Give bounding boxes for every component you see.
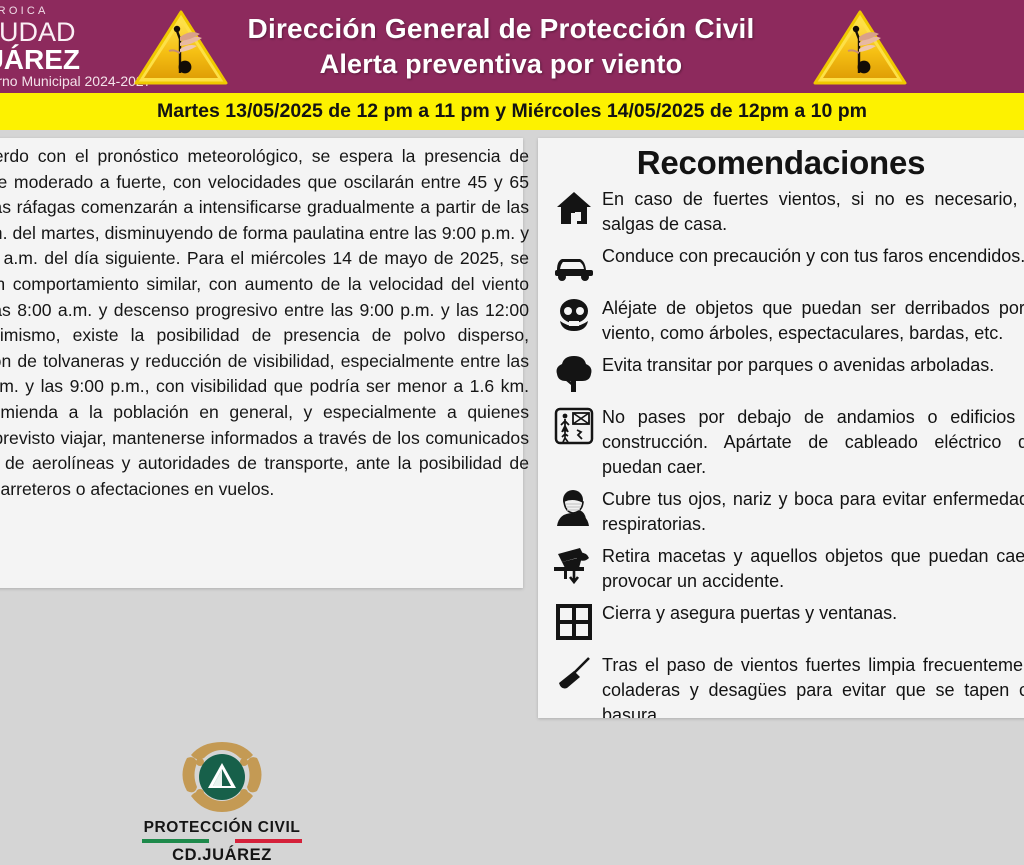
brand-line-ciudad: CIUDAD [0, 19, 76, 46]
accent-bar-red [235, 839, 302, 843]
brand-line-gobierno: Gobierno Municipal 2024-2027 [0, 74, 151, 88]
list-item-text: Cierra y asegura puertas y ventanas. [602, 601, 1024, 626]
list-item: Cierra y asegura puertas y ventanas. [538, 597, 1024, 647]
falling-object-icon [546, 293, 602, 341]
list-item: Evita transitar por parques o avenidas a… [538, 349, 1024, 399]
wind-tree-warning-triangle-icon [812, 9, 908, 87]
recommendations-title: Recomendaciones [538, 144, 1024, 182]
brand-line-juarez: JUÁREZ [0, 46, 80, 74]
list-item-text: En caso de fuertes vientos, si no es nec… [602, 187, 1024, 237]
list-item: En caso de fuertes vientos, si no es nec… [538, 183, 1024, 238]
header-title-block: Dirección General de Protección Civil Al… [196, 11, 806, 81]
proteccion-civil-seal-icon [112, 738, 332, 818]
window-icon [546, 598, 602, 646]
proteccion-civil-logo: PROTECCIÓN CIVIL CD.JUÁREZ [112, 738, 332, 856]
list-item: Conduce con precaución y con tus faros e… [538, 240, 1024, 290]
list-item-text: No pases por debajo de andamios o edific… [602, 405, 1024, 480]
mexican-flag-accent-bars [142, 839, 302, 843]
header-title-line2: Alerta preventiva por viento [196, 47, 806, 81]
scaffolding-warning-sign-icon [546, 402, 602, 450]
list-item: Aléjate de objetos que puedan ser derrib… [538, 292, 1024, 347]
list-item-text: Cubre tus ojos, nariz y boca para evitar… [602, 487, 1024, 537]
header-title-line1: Dirección General de Protección Civil [196, 11, 806, 47]
home-icon [546, 184, 602, 232]
broom-icon [546, 650, 602, 698]
list-item-text: Aléjate de objetos que puedan ser derrib… [602, 296, 1024, 346]
list-item-text: Retira macetas y aquellos objetos que pu… [602, 544, 1024, 594]
list-item-text: Evita transitar por parques o avenidas a… [602, 353, 1024, 378]
list-item: Cubre tus ojos, nariz y boca para evitar… [538, 483, 1024, 538]
accent-bar-green [142, 839, 209, 843]
proteccion-civil-label: PROTECCIÓN CIVIL [112, 819, 332, 837]
list-item: No pases por debajo de andamios o edific… [538, 401, 1024, 481]
tree-icon [546, 350, 602, 398]
recommendations-card: Recomendaciones En caso de fuertes vient… [538, 138, 1024, 718]
brand-line-heroica: HEROICA [0, 6, 49, 17]
alert-date-banner: Martes 13/05/2025 de 12 pm a 11 pm y Mié… [0, 93, 1024, 130]
municipality-logo: HEROICA CIUDAD JUÁREZ Gobierno Municipal… [0, 4, 96, 88]
page-header: HEROICA CIUDAD JUÁREZ Gobierno Municipal… [0, 0, 1024, 93]
bulletin-card: De acuerdo con el pronóstico meteorológi… [0, 138, 523, 588]
alert-date-text: Martes 13/05/2025 de 12 pm a 11 pm y Mié… [157, 100, 867, 123]
falling-flowerpot-icon [546, 541, 602, 589]
list-item: Retira macetas y aquellos objetos que pu… [538, 540, 1024, 595]
list-item: Tras el paso de vientos fuertes limpia f… [538, 649, 1024, 718]
accent-bar-white [209, 839, 235, 843]
bulletin-text: De acuerdo con el pronóstico meteorológi… [0, 144, 529, 502]
face-mask-icon [546, 484, 602, 532]
recommendations-list: En caso de fuertes vientos, si no es nec… [538, 183, 1024, 718]
list-item-text: Conduce con precaución y con tus faros e… [602, 244, 1024, 269]
car-icon [546, 241, 602, 289]
main-content: De acuerdo con el pronóstico meteorológi… [0, 130, 1024, 726]
list-item-text: Tras el paso de vientos fuertes limpia f… [602, 653, 1024, 718]
proteccion-civil-city: CD.JUÁREZ [112, 846, 332, 865]
